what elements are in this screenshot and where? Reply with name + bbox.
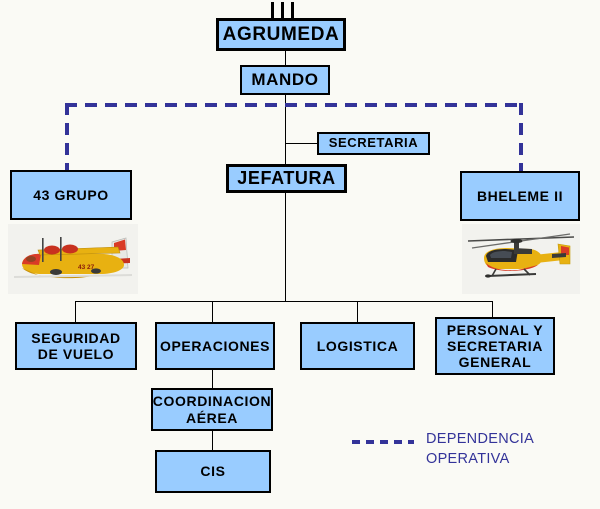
node-operaciones[interactable]: OPERACIONES bbox=[155, 322, 275, 370]
node-coordinacion-aerea[interactable]: COORDINACION AÉREA bbox=[151, 388, 273, 431]
connector-distribution-bar bbox=[75, 301, 493, 302]
dashed-bus-horizontal bbox=[65, 103, 523, 107]
rank-tick-2 bbox=[281, 2, 284, 18]
dashed-branch-left bbox=[65, 103, 69, 171]
node-logistica[interactable]: LOGISTICA bbox=[300, 322, 415, 370]
node-secretaria-label: SECRETARIA bbox=[325, 136, 423, 151]
connector-operaciones-coordinacion bbox=[212, 370, 213, 388]
connector-jefatura-trunk bbox=[285, 192, 286, 301]
node-coordinacion-aerea-label: COORDINACION AÉREA bbox=[149, 393, 275, 425]
node-bheleme-ii[interactable]: BHELEME II bbox=[460, 171, 580, 221]
organizational-chart: AGRUMEDA MANDO SECRETARIA JEFATURA 43 GR… bbox=[0, 0, 600, 509]
seaplane-illustration: 43 27 bbox=[8, 224, 138, 294]
node-cis[interactable]: CIS bbox=[155, 450, 271, 493]
node-secretaria[interactable]: SECRETARIA bbox=[317, 132, 430, 155]
rank-tick-3 bbox=[291, 2, 294, 18]
helicopter-photo bbox=[462, 224, 580, 294]
node-mando-label: MANDO bbox=[247, 70, 322, 90]
node-seguridad-de-vuelo-label: SEGURIDAD DE VUELO bbox=[27, 330, 124, 362]
legend-label: DEPENDENCIA OPERATIVA bbox=[426, 430, 534, 469]
connector-drop-seguridad bbox=[75, 301, 76, 322]
legend-dashed-line-sample bbox=[352, 440, 414, 444]
node-personal-y-secretaria-general[interactable]: PERSONAL Y SECRETARIA GENERAL bbox=[435, 317, 555, 375]
node-cis-label: CIS bbox=[196, 463, 229, 479]
legend: DEPENDENCIA OPERATIVA bbox=[352, 430, 534, 469]
rank-tick-1 bbox=[271, 2, 274, 18]
node-jefatura-label: JEFATURA bbox=[233, 168, 339, 189]
node-agrumeda-label: AGRUMEDA bbox=[219, 24, 344, 46]
node-agrumeda[interactable]: AGRUMEDA bbox=[216, 18, 346, 51]
node-logistica-label: LOGISTICA bbox=[313, 338, 403, 354]
connector-coordinacion-cis bbox=[212, 431, 213, 450]
seaplane-photo: 43 27 bbox=[8, 224, 138, 294]
connector-agrumeda-mando bbox=[285, 50, 286, 66]
node-43-grupo[interactable]: 43 GRUPO bbox=[10, 170, 132, 220]
node-seguridad-de-vuelo[interactable]: SEGURIDAD DE VUELO bbox=[15, 322, 137, 370]
node-operaciones-label: OPERACIONES bbox=[156, 338, 274, 354]
node-personal-y-secretaria-general-label: PERSONAL Y SECRETARIA GENERAL bbox=[443, 322, 548, 370]
connector-jefatura-secretaria bbox=[285, 143, 318, 144]
svg-text:43 27: 43 27 bbox=[78, 264, 95, 271]
connector-drop-operaciones bbox=[212, 301, 213, 322]
dashed-branch-right bbox=[519, 103, 523, 171]
node-bheleme-ii-label: BHELEME II bbox=[473, 188, 567, 204]
connector-drop-logistica bbox=[357, 301, 358, 322]
node-43-grupo-label: 43 GRUPO bbox=[29, 187, 113, 203]
helicopter-illustration bbox=[462, 224, 580, 294]
node-jefatura[interactable]: JEFATURA bbox=[226, 164, 347, 193]
node-mando[interactable]: MANDO bbox=[240, 65, 330, 95]
